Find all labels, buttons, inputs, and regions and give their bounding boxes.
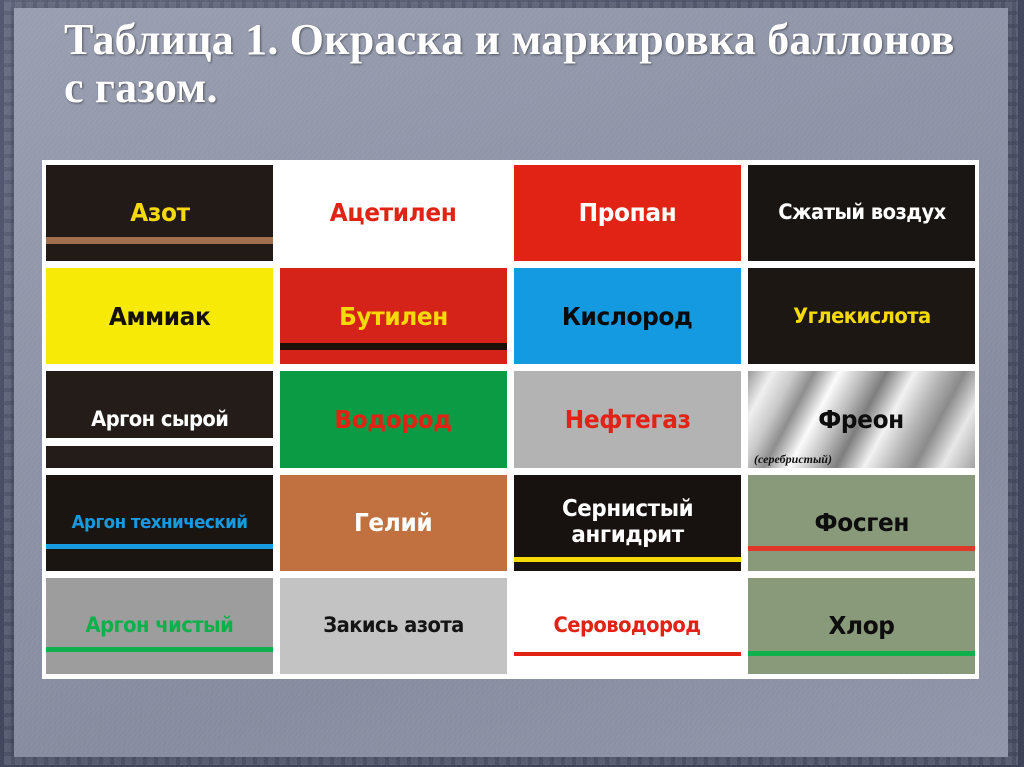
gas-name-label: Сжатый воздух — [772, 202, 951, 223]
gas-name-label: Аргон чистый — [80, 615, 239, 636]
gas-cell: Углекислота — [748, 268, 975, 364]
gas-name-label: Фреон — [813, 407, 910, 433]
gas-cell: Сжатый воздух — [748, 165, 975, 261]
marking-stripe — [514, 652, 741, 656]
gas-cell: Аргон сырой — [46, 371, 273, 467]
marking-stripe — [46, 647, 273, 652]
gas-name-label: Сероводород — [548, 615, 706, 636]
gas-cell: Сернистый ангидрит — [514, 475, 741, 571]
marking-stripe — [748, 651, 975, 656]
gas-name-label: Кислород — [557, 304, 699, 330]
gas-name-label: Бутилен — [333, 304, 453, 330]
gas-cell: Фреон(серебристый) — [748, 371, 975, 467]
gas-cell: Азот — [46, 165, 273, 261]
gas-cell: Фосген — [748, 475, 975, 571]
gas-name-label: Закись азота — [318, 615, 470, 636]
gas-cylinder-colour-table: АзотАцетиленПропанСжатый воздухАммиакБут… — [42, 160, 979, 679]
gas-name-label: Хлор — [823, 613, 900, 639]
slide-canvas: Таблица 1. Окраска и маркировка баллонов… — [0, 0, 1024, 767]
gas-cell: Аммиак — [46, 268, 273, 364]
gas-name-label: Нефтегаз — [559, 407, 696, 433]
gas-name-label: Сернистый ангидрит — [556, 497, 699, 549]
gas-cell: Аргон чистый — [46, 578, 273, 674]
gas-cell: Сероводород — [514, 578, 741, 674]
gas-cell: Пропан — [514, 165, 741, 261]
gas-name-label: Аргон сырой — [85, 409, 233, 430]
gas-name-label: Аммиак — [103, 304, 216, 330]
gas-cell: Кислород — [514, 268, 741, 364]
gas-name-label: Водород — [329, 407, 457, 433]
gas-name-label: Азот — [124, 200, 195, 226]
gas-cell: Аргон технический — [46, 475, 273, 571]
marking-stripe — [514, 557, 741, 562]
gas-cell: Ацетилен — [280, 165, 507, 261]
gas-colour-note: (серебристый) — [754, 453, 832, 465]
marking-stripe — [280, 343, 507, 350]
gas-cell: Нефтегаз — [514, 371, 741, 467]
gas-name-label: Фосген — [809, 510, 915, 536]
gas-name-label: Аргон технический — [66, 514, 253, 532]
gas-name-label: Ацетилен — [325, 200, 463, 226]
marking-stripe — [46, 544, 273, 549]
marking-stripe — [46, 438, 273, 446]
gas-cell: Бутилен — [280, 268, 507, 364]
gas-cell: Закись азота — [280, 578, 507, 674]
page-title: Таблица 1. Окраска и маркировка баллонов… — [64, 16, 964, 111]
marking-stripe — [748, 546, 975, 551]
gas-name-label: Гелий — [349, 510, 438, 536]
gas-cell: Хлор — [748, 578, 975, 674]
gas-name-label: Углекислота — [787, 306, 936, 327]
gas-cell: Водород — [280, 371, 507, 467]
gas-name-label: Пропан — [573, 200, 682, 226]
gas-cell: Гелий — [280, 475, 507, 571]
marking-stripe — [46, 237, 273, 244]
